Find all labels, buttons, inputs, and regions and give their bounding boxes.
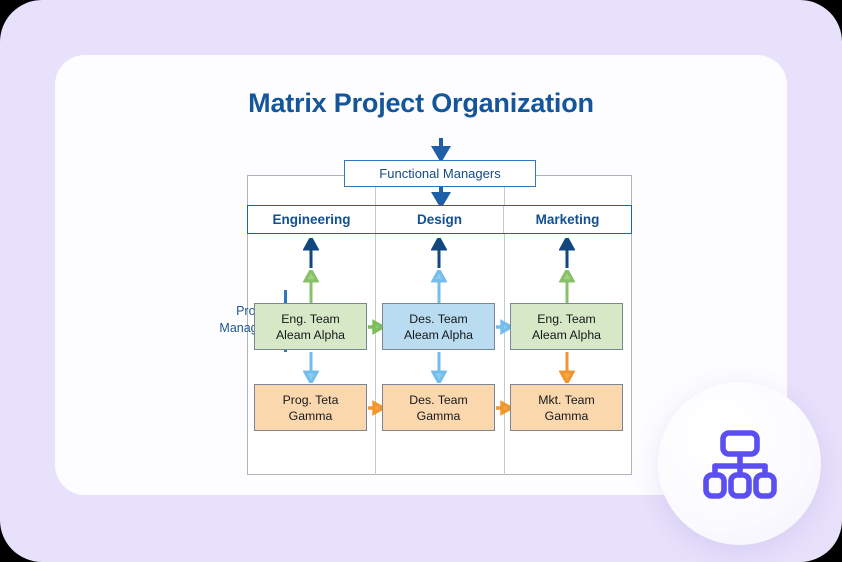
arrow-into-functional-managers-icon (431, 138, 451, 160)
functional-managers-box[interactable]: Functional Managers (344, 160, 536, 187)
arrow-to-department-headers-icon (431, 186, 451, 206)
column-header-marketing[interactable]: Marketing (504, 206, 631, 233)
arrow-down-marketing-icon (559, 352, 575, 383)
team-box-line2: Aleam Alpha (276, 327, 345, 343)
page-background: Matrix Project Organization Functional M… (0, 0, 842, 562)
team-box[interactable]: Mkt. Team Gamma (510, 384, 623, 431)
team-box[interactable]: Des. Team Gamma (382, 384, 495, 431)
org-chart-icon (701, 425, 779, 503)
team-box-line1: Prog. Teta (283, 392, 339, 408)
team-box[interactable]: Des. Team Aleam Alpha (382, 303, 495, 350)
functional-managers-label: Functional Managers (379, 166, 500, 181)
team-box-line1: Eng. Team (537, 311, 596, 327)
team-box-line1: Des. Team (409, 392, 468, 408)
arrow-down-design-icon (431, 352, 447, 383)
team-box-line1: Eng. Team (281, 311, 340, 327)
department-header-row: Engineering Design Marketing (247, 205, 632, 234)
arrow-report-up-design-icon (431, 238, 447, 268)
team-box-line1: Des. Team (409, 311, 468, 327)
arrow-down-engineering-icon (303, 352, 319, 383)
arrow-up-row1-design-icon (431, 270, 447, 304)
arrow-report-up-engineering-icon (303, 238, 319, 268)
column-header-engineering[interactable]: Engineering (248, 206, 376, 233)
org-chart-badge (658, 382, 821, 545)
arrow-report-up-marketing-icon (559, 238, 575, 268)
team-box-line2: Aleam Alpha (404, 327, 473, 343)
team-box[interactable]: Eng. Team Aleam Alpha (254, 303, 367, 350)
team-box[interactable]: Prog. Teta Gamma (254, 384, 367, 431)
column-header-design[interactable]: Design (376, 206, 504, 233)
team-box[interactable]: Eng. Team Aleam Alpha (510, 303, 623, 350)
team-box-line1: Mkt. Team (538, 392, 595, 408)
team-box-line2: Gamma (417, 408, 461, 424)
team-box-line2: Gamma (289, 408, 333, 424)
arrow-up-row1-marketing-icon (559, 270, 575, 304)
arrow-up-row1-engineering-icon (303, 270, 319, 304)
team-box-line2: Aleam Alpha (532, 327, 601, 343)
team-box-line2: Gamma (545, 408, 589, 424)
